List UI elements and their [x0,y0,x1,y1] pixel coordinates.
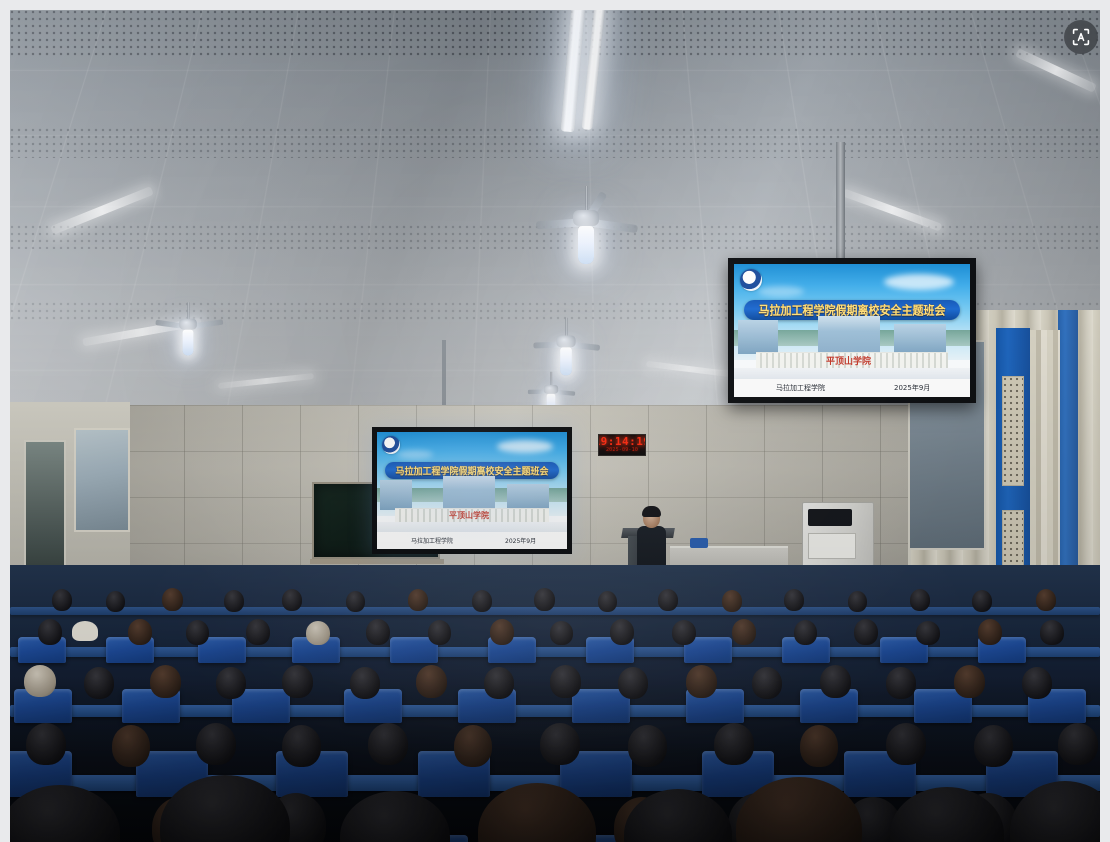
audience-head [454,725,492,767]
audience-head [732,619,756,645]
audience-head [886,667,916,699]
audience-head [106,591,125,612]
right-curtain [1030,330,1060,600]
audience-head [954,665,985,698]
slide-campus-sign: 平顶山学院 [826,354,871,367]
audience-head [282,665,313,698]
audience-head [306,621,330,645]
left-window [74,428,130,532]
audience-head [610,619,634,645]
audience-head [10,785,120,842]
audience-head [658,589,678,611]
audience-head [216,667,246,699]
audience-head [628,725,667,767]
audience-head [820,665,851,698]
audience-head [24,665,56,697]
ac-display-panel [808,509,852,526]
audience-head [972,590,992,612]
seat-row [10,617,1100,669]
fan-rod [187,302,189,320]
audience-head [978,619,1002,645]
audience-head [478,783,596,842]
audience-head [890,787,1004,842]
audience-head [1022,667,1052,699]
audience-head [534,588,555,611]
audience-head [736,777,862,842]
audience-head [848,591,867,612]
audience-head [340,791,450,842]
slide-plaza [377,522,567,532]
slide-building-right [507,484,549,510]
audience-head [26,723,66,765]
audience-head [794,620,817,645]
audience-head [598,591,617,612]
audience-head [246,619,270,645]
audience-head [540,723,580,765]
live-text-icon [1071,27,1091,47]
seat-row [10,665,1100,731]
slide-building-left [380,480,412,510]
slide-plaza [734,368,970,379]
audience-head [672,620,696,645]
slide-footer-org: 马拉加工程学院 [776,383,825,393]
audience-seating-area [10,565,1100,842]
audience-head [722,590,742,612]
audience-head [624,789,732,842]
fan-hub [179,319,197,330]
ceiling-fan [538,186,634,296]
audience-head [916,621,940,645]
fan-rod [585,186,588,212]
fan-hub [544,385,558,394]
acoustic-panel [1002,376,1024,486]
photo-viewer: 19:14:19 2025-09-10 马拉加工程学院假期离校安全主题班会 平顶… [0,0,1110,842]
projection-screen[interactable]: 马拉加工程学院假期离校安全主题班会 平顶山学院 马拉加工程学院 2025年9月 [372,427,572,554]
university-emblem [740,269,762,291]
slide-cloud [758,286,804,297]
slide-building-left [738,320,778,354]
slide-footer-date: 2025年9月 [894,383,930,393]
chalk-rail [310,559,444,564]
slide-building-center [818,316,880,354]
live-text-button[interactable] [1064,20,1098,54]
pendant-lamp [183,330,194,356]
audience-head [752,667,782,699]
audience-head [428,620,451,645]
slide-footer: 马拉加工程学院 2025年9月 [377,532,567,549]
audience-head [416,665,447,698]
audience-head [974,725,1013,767]
audience-head [714,723,754,765]
audience-head [550,665,581,698]
audience-head [1036,589,1056,611]
audience-head [52,589,72,611]
led-clock-date: 2025-09-10 [606,447,638,454]
audience-head [550,621,573,645]
audience-head [784,589,804,611]
desk [10,647,1100,657]
audience-head [484,667,514,699]
audience-head [408,589,428,611]
audience-head [800,725,838,767]
audience-head [112,725,150,767]
foreground-audience [10,765,1100,842]
audience-head [1010,781,1100,842]
photograph: 19:14:19 2025-09-10 马拉加工程学院假期离校安全主题班会 平顶… [10,10,1100,842]
audience-head [84,667,114,699]
audience-head [346,591,365,612]
slide-content: 马拉加工程学院假期离校安全主题班会 平顶山学院 马拉加工程学院 2025年9月 [377,432,567,549]
audience-head [38,619,62,645]
display-mount-pole [836,142,845,262]
led-clock-time: 19:14:19 [598,436,646,447]
audience-cap [72,621,98,641]
audience-head [162,588,183,611]
audience-head [366,619,390,645]
audience-head [910,589,930,611]
audience-head [350,667,380,699]
audience-head [490,619,514,645]
slide-cloud [884,274,954,290]
slide-footer-org: 马拉加工程学院 [411,536,453,545]
audience-head [282,725,321,767]
audience-head [1040,620,1064,645]
slide-building-right [894,324,946,354]
audience-head [150,665,181,698]
presenter-hair [642,506,661,517]
slide-campus-sign: 平顶山学院 [449,510,489,521]
ceiling-fan [161,302,215,363]
fan-rod [550,372,552,386]
audience-head [282,589,302,611]
audience-head [196,723,236,765]
audience-head [618,667,648,699]
projector-mount-pole [442,340,446,414]
desk-item [690,538,708,548]
audience-head [186,620,209,645]
university-emblem [382,436,400,454]
slide-cloud [397,450,433,459]
pendant-lamp [578,226,594,264]
audience-head [224,590,244,612]
audience-head [854,619,878,645]
audience-head [128,619,152,645]
audience-head [1058,723,1098,765]
wall-mounted-display[interactable]: 马拉加工程学院假期离校安全主题班会 平顶山学院 马拉加工程学院 2025年9月 [728,258,976,403]
fan-hub [573,210,599,226]
fan-rod [565,318,567,337]
audience-head [368,723,408,765]
audience-head [472,590,492,612]
fan-hub [556,335,575,347]
slide-cloud [497,440,553,453]
audience-head [160,775,290,842]
slide-footer-date: 2025年9月 [505,536,536,545]
slide-footer: 马拉加工程学院 2025年9月 [734,379,970,397]
audience-head [886,723,926,765]
slide-building-center [443,476,495,510]
led-clock: 19:14:19 2025-09-10 [598,434,646,456]
ac-front-door [808,533,856,559]
slide-content: 马拉加工程学院假期离校安全主题班会 平顶山学院 马拉加工程学院 2025年9月 [734,264,970,397]
audience-head [686,665,717,698]
